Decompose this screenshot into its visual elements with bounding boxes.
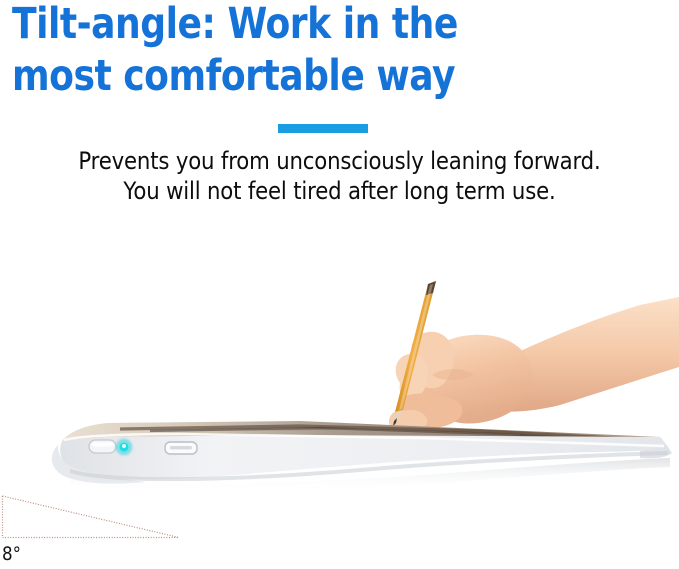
drawing-tablet [52, 421, 672, 492]
port-slot [165, 442, 197, 454]
power-button[interactable] [89, 440, 116, 453]
led-indicator [114, 437, 134, 457]
accent-bar [278, 124, 368, 133]
page-title: Tilt-angle: Work in the most comfortable… [12, 0, 566, 102]
triangle-hypotenuse-edge [3, 496, 180, 538]
product-feature-panel: Tilt-angle: Work in the most comfortable… [0, 0, 679, 569]
tablet-and-hand-illustration [0, 255, 679, 505]
tilt-angle-diagram [0, 488, 220, 546]
angle-triangle [0, 488, 220, 546]
product-photo [0, 255, 679, 505]
angle-label: 8° [2, 543, 21, 565]
hand-holding-pencil [389, 297, 679, 432]
divider [0, 124, 679, 136]
subtitle-text: Prevents you from unconsciously leaning … [39, 146, 640, 206]
